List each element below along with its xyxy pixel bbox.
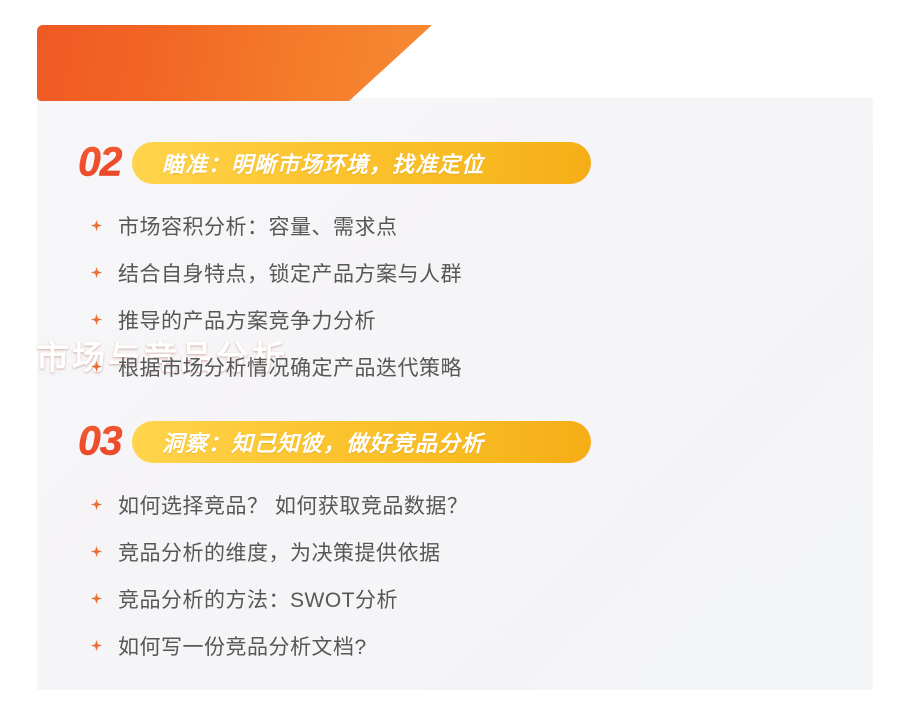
list-item-label: 根据市场分析情况确定产品迭代策略 — [118, 352, 462, 382]
list-item: 竞品分析的维度，为决策提供依据 — [91, 528, 468, 575]
diamond-bullet-icon — [91, 267, 102, 278]
list-item-label: 竞品分析的维度，为决策提供依据 — [118, 537, 441, 567]
bullet-list-03: 如何选择竞品？ 如何获取竞品数据？ 竞品分析的维度，为决策提供依据 竞品分析的方… — [91, 481, 468, 669]
section-header-03: 03 洞察：知己知彼，做好竞品分析 — [78, 419, 538, 465]
bullet-list-02: 市场容积分析：容量、需求点 结合自身特点，锁定产品方案与人群 推导的产品方案竞争… — [91, 202, 462, 390]
diamond-bullet-icon — [91, 220, 102, 231]
diamond-bullet-icon — [91, 314, 102, 325]
diamond-bullet-icon — [91, 640, 102, 651]
section-number-02: 02 — [78, 139, 122, 186]
list-item: 如何选择竞品？ 如何获取竞品数据？ — [91, 481, 468, 528]
diamond-bullet-icon — [91, 499, 102, 510]
list-item: 根据市场分析情况确定产品迭代策略 — [91, 343, 462, 390]
header-banner — [37, 25, 432, 101]
diamond-bullet-icon — [91, 361, 102, 372]
list-item-label: 推导的产品方案竞争力分析 — [118, 305, 376, 335]
diamond-bullet-icon — [91, 593, 102, 604]
list-item-label: 竞品分析的方法：SWOT分析 — [118, 584, 398, 614]
list-item-label: 如何写一份竞品分析文档? — [118, 631, 367, 661]
list-item: 竞品分析的方法：SWOT分析 — [91, 575, 468, 622]
diamond-bullet-icon — [91, 546, 102, 557]
list-item: 推导的产品方案竞争力分析 — [91, 296, 462, 343]
list-item-label: 结合自身特点，锁定产品方案与人群 — [118, 258, 462, 288]
list-item: 市场容积分析：容量、需求点 — [91, 202, 462, 249]
list-item-label: 如何选择竞品？ 如何获取竞品数据？ — [118, 490, 468, 520]
section-number-03: 03 — [78, 418, 122, 465]
section-heading-02: 瞄准：明晰市场环境，找准定位 — [162, 147, 484, 179]
section-header-02: 02 瞄准：明晰市场环境，找准定位 — [78, 140, 538, 186]
slide-root: 市场与竞品分析 02 瞄准：明晰市场环境，找准定位 市场容积分析：容量、需求点 … — [0, 0, 900, 709]
list-item: 如何写一份竞品分析文档? — [91, 622, 468, 669]
list-item-label: 市场容积分析：容量、需求点 — [118, 211, 398, 241]
section-heading-03: 洞察：知己知彼，做好竞品分析 — [162, 426, 484, 458]
list-item: 结合自身特点，锁定产品方案与人群 — [91, 249, 462, 296]
